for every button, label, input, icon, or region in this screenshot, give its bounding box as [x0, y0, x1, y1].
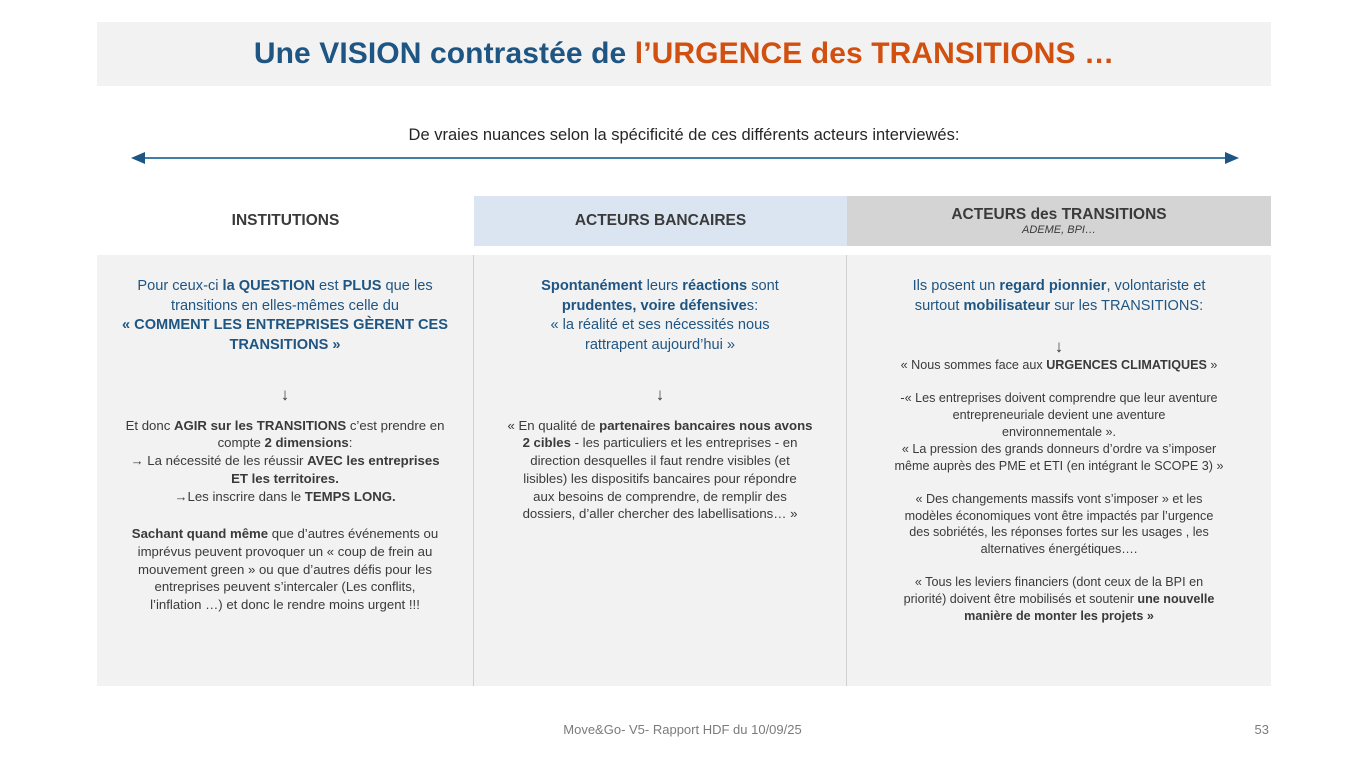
column-text-block: Sachant quand même que d’autres événemen…	[111, 525, 459, 613]
column-header-institutions: INSTITUTIONS	[97, 196, 474, 246]
column-text-block: Spontanément leurs réactions sontprudent…	[488, 277, 832, 356]
column-body-institutions: Pour ceux-ci la QUESTION est PLUS que le…	[97, 255, 474, 686]
column-text-block: Ils posent un regard pionnier, volontari…	[861, 277, 1257, 316]
column-header-acteurs-bancaires: ACTEURS BANCAIRES	[474, 196, 847, 246]
column-text-block: Et donc AGIR sur les TRANSITIONS c’est p…	[111, 417, 459, 505]
column-text-block: « En qualité de partenaires bancaires no…	[488, 417, 832, 523]
double-headed-arrow-icon	[131, 150, 1239, 166]
column-header-acteurs-transitions: ACTEURS des TRANSITIONS ADEME, BPI…	[847, 196, 1271, 246]
footer-label: Move&Go- V5- Rapport HDF du 10/09/25	[0, 722, 1365, 737]
column-text-block: « Tous les leviers financiers (dont ceux…	[861, 574, 1257, 625]
slide-title-band: Une VISION contrastée de l’URGENCE des T…	[97, 22, 1271, 86]
column-header-title: ACTEURS des TRANSITIONS	[951, 206, 1166, 224]
columns-body: Pour ceux-ci la QUESTION est PLUS que le…	[97, 255, 1271, 686]
page-number: 53	[1255, 722, 1269, 737]
column-header-subtitle: ADEME, BPI…	[1022, 224, 1096, 236]
column-header-title: ACTEURS BANCAIRES	[575, 212, 746, 230]
spectrum-double-arrow	[131, 150, 1239, 166]
column-body-acteurs-transitions: Ils posent un regard pionnier, volontari…	[847, 255, 1271, 686]
slide-subtitle: De vraies nuances selon la spécificité d…	[97, 126, 1271, 145]
column-text-block: -« Les entreprises doivent comprendre qu…	[861, 390, 1257, 474]
down-arrow-icon: ↓	[488, 386, 832, 403]
column-text-block: « Nous sommes face aux URGENCES CLIMATIQ…	[861, 357, 1257, 374]
page-title-primary: Une VISION contrastée de	[254, 37, 635, 70]
page-title-accent: l’URGENCE des TRANSITIONS …	[635, 37, 1114, 70]
down-arrow-icon: ↓	[861, 338, 1257, 355]
column-body-acteurs-bancaires: Spontanément leurs réactions sontprudent…	[474, 255, 847, 686]
column-text-block: « Des changements massifs vont s’imposer…	[861, 491, 1257, 559]
column-header-title: INSTITUTIONS	[232, 212, 340, 230]
down-arrow-icon: ↓	[111, 386, 459, 403]
column-text-block: Pour ceux-ci la QUESTION est PLUS que le…	[111, 277, 459, 356]
page-title: Une VISION contrastée de l’URGENCE des T…	[254, 37, 1114, 71]
column-headers: INSTITUTIONS ACTEURS BANCAIRES ACTEURS d…	[97, 196, 1271, 246]
